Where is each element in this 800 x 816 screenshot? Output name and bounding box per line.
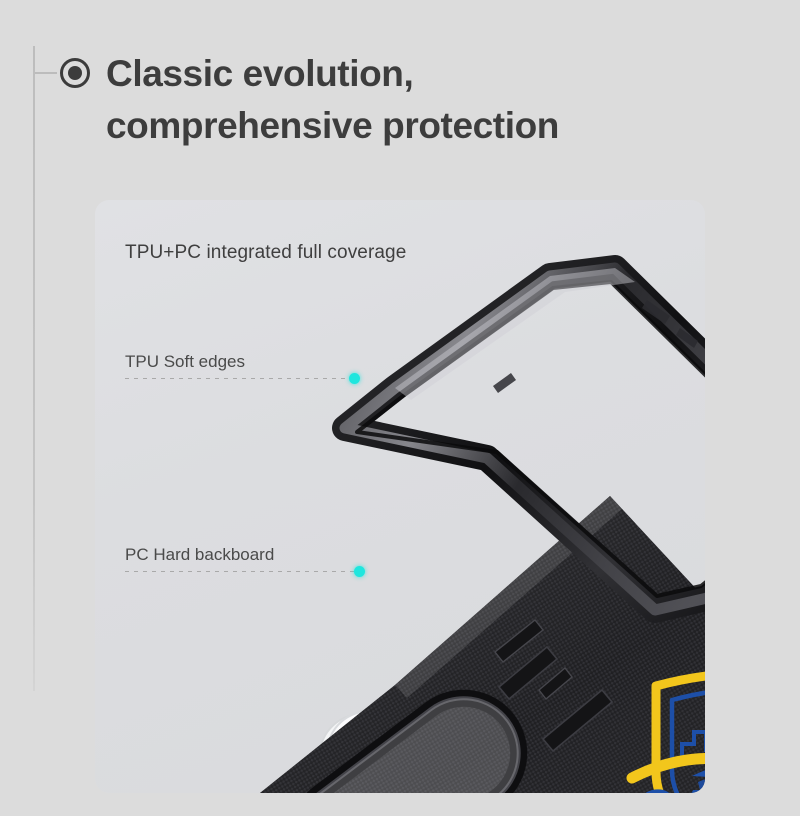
product-card: TPU+PC integrated full coverage	[95, 200, 705, 793]
callout-dashed-line	[125, 378, 355, 379]
callout-dashed-line	[125, 571, 360, 572]
left-rail-line	[33, 46, 35, 691]
page-title-line1: Classic evolution,	[106, 53, 413, 94]
product-feature-banner: Classic evolution, comprehensive protect…	[0, 0, 800, 816]
callout-dot-icon	[354, 566, 365, 577]
callout-label: PC Hard backboard	[125, 545, 274, 565]
watermark-phone: 0333.555.555	[690, 792, 705, 793]
callout-label: TPU Soft edges	[125, 352, 245, 372]
card-title: TPU+PC integrated full coverage	[125, 242, 406, 264]
brand-text: CASEME	[633, 779, 705, 793]
product-artwork	[95, 200, 705, 793]
page-title-line2: comprehensive protection	[106, 100, 726, 152]
caseme-watermark-logo: CASEME 0333.555.555	[620, 652, 705, 793]
callout-dot-icon	[349, 373, 360, 384]
ring-dot-icon	[60, 58, 90, 88]
left-rail-tick	[35, 72, 57, 74]
page-title: Classic evolution, comprehensive protect…	[106, 48, 726, 152]
